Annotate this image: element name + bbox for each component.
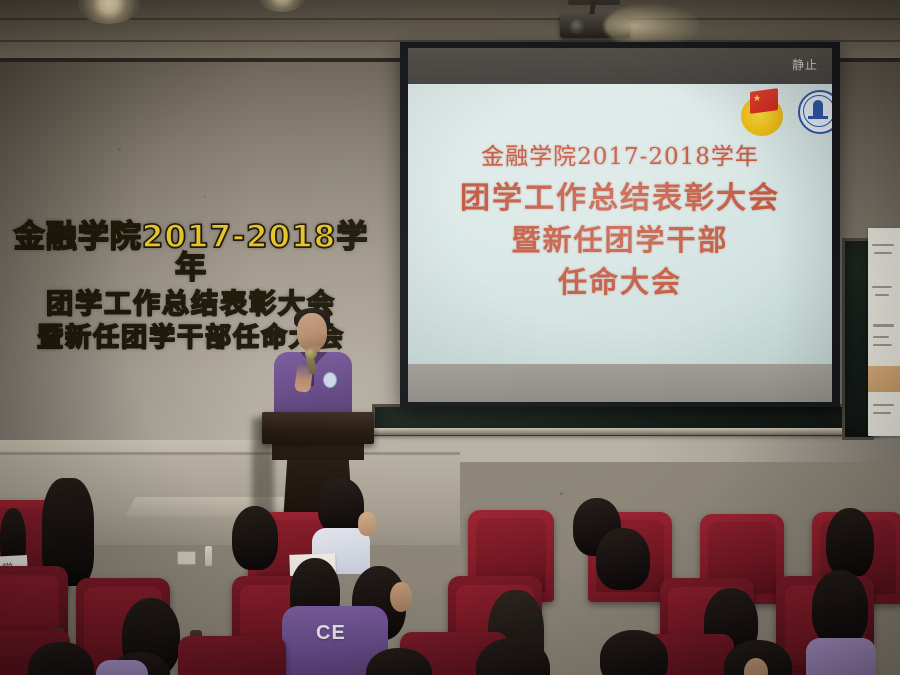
chalk-tray	[368, 428, 880, 435]
seat	[178, 636, 286, 675]
freeze-status-label: 静止	[792, 56, 818, 73]
university-seal-emblem-icon	[798, 88, 832, 134]
wall-speck	[204, 196, 206, 198]
microphone-head-icon	[305, 348, 317, 359]
audience-head	[232, 506, 278, 570]
wall-speck	[118, 148, 121, 151]
wall-poster	[868, 228, 900, 436]
ceiling-seam	[0, 18, 900, 20]
audience-head	[600, 630, 668, 675]
stage-edge	[0, 452, 460, 455]
projector-lens-icon	[570, 19, 586, 34]
projection-screen-surface: ★ 金融学院2017-2018学年 团学工作总结表彰大会 暨新任团学干部 任命大…	[408, 84, 832, 364]
audience-shirt	[96, 660, 148, 675]
communist-youth-league-emblem-icon: ★	[741, 90, 787, 136]
audience-head	[596, 528, 650, 590]
water-bottle	[205, 546, 212, 566]
projection-screen-footer	[408, 364, 832, 402]
ceiling-projector	[560, 0, 720, 48]
wall-banner-line-1: 金融学院2017-2018学年	[6, 222, 376, 284]
audience-head	[826, 508, 874, 578]
shirt-text: CE	[316, 622, 346, 645]
audience-hand	[358, 512, 376, 536]
slide-content: ★ 金融学院2017-2018学年 团学工作总结表彰大会 暨新任团学干部 任命大…	[408, 84, 832, 364]
podium-top	[262, 412, 374, 444]
audience-shirt	[806, 638, 876, 675]
speaker-shirt-logo-icon	[323, 372, 337, 388]
lecture-hall-photo: 金融学院2017-2018学年 团学工作总结表彰大会 暨新任团学干部任命大会 静…	[0, 0, 900, 675]
audience-face	[390, 582, 412, 612]
podium-neck	[272, 444, 364, 460]
slide-line-4: 任命大会	[408, 268, 832, 297]
audience-area: 学 生 新任 外联 学 CE	[0, 470, 900, 675]
slide-line-1: 金融学院2017-2018学年	[408, 146, 832, 169]
audience-head	[812, 570, 868, 646]
projection-screen-header: 静止	[408, 48, 832, 84]
slide-line-2: 团学工作总结表彰大会	[408, 184, 832, 214]
slide-line-3: 暨新任团学干部	[408, 226, 832, 255]
